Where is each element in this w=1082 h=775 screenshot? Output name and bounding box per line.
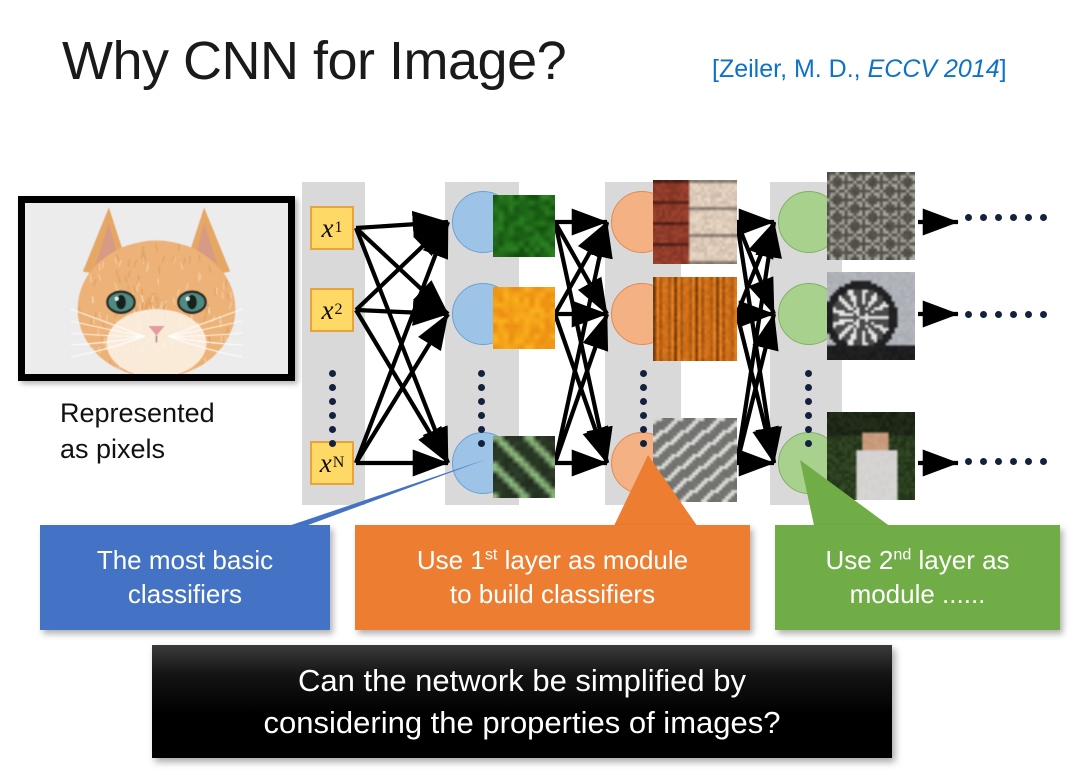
callout-green-line-2: module ...... [825, 578, 1009, 611]
callout-orange-line-1-a: Use 1 [417, 545, 485, 575]
callout-orange-line-1: Use 1st layer as module [417, 544, 688, 577]
callout-second-layer-module[interactable]: Use 2nd layer as module ...... [775, 525, 1060, 630]
orange-callout-tail [612, 455, 700, 530]
callout-orange-ordinal: st [485, 546, 498, 564]
green-callout-tail [800, 460, 895, 530]
callout-green-line-1-b: layer as [911, 545, 1009, 575]
callout-orange-line-1-b: layer as module [497, 545, 688, 575]
callout-green-ordinal: nd [893, 546, 911, 564]
callout-basic-classifiers[interactable]: The most basic classifiers [40, 525, 330, 630]
slide-canvas: Why CNN for Image? [Zeiler, M. D., ECCV … [0, 0, 1082, 775]
banner-line-1: Can the network be simplified by [264, 660, 781, 702]
banner-line-2: considering the properties of images? [264, 702, 781, 744]
callout-blue-line-2: classifiers [97, 578, 273, 611]
callout-green-line-1-a: Use 2 [825, 545, 893, 575]
callout-blue-line-1: The most basic [97, 544, 273, 577]
callout-orange-line-2: to build classifiers [417, 578, 688, 611]
callout-green-line-1: Use 2nd layer as [825, 544, 1009, 577]
question-banner: Can the network be simplified by conside… [152, 645, 892, 758]
callout-first-layer-module[interactable]: Use 1st layer as module to build classif… [355, 525, 750, 630]
